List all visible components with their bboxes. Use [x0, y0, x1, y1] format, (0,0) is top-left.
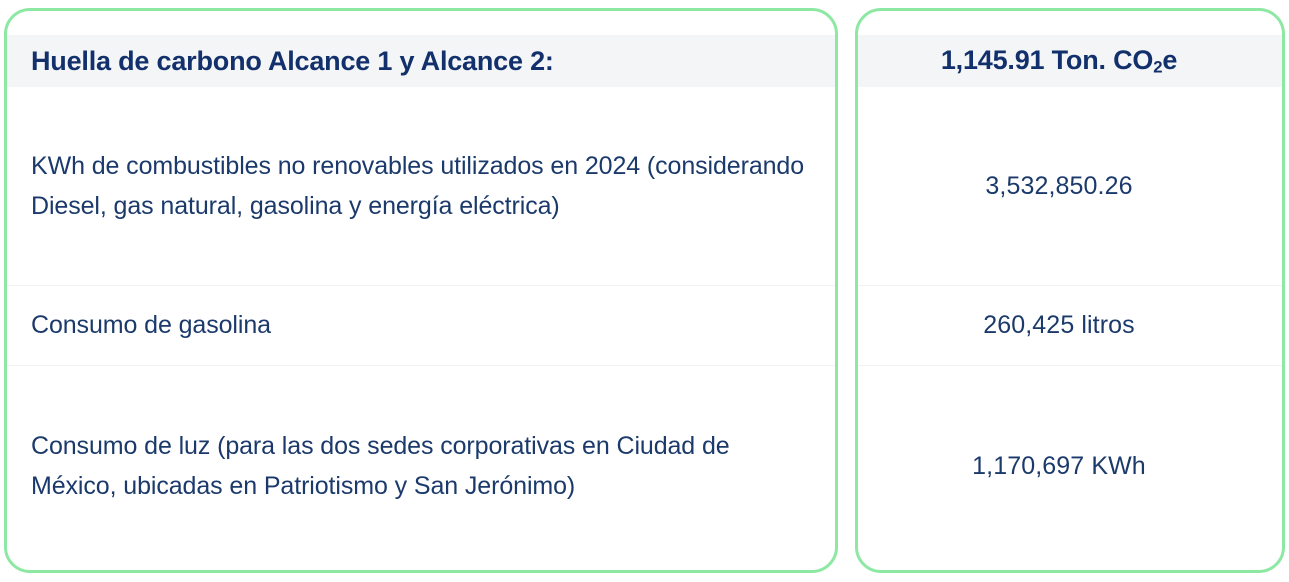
row-label-electricity: Consumo de luz (para las dos sedes corpo…: [7, 426, 835, 507]
table-row: 1,170,697 KWh: [858, 366, 1282, 566]
row-label-fuels: KWh de combustibles no renovables utiliz…: [7, 146, 835, 227]
row-label-gasoline: Consumo de gasolina: [7, 305, 295, 346]
page-title: Huella de carbono Alcance 1 y Alcance 2:: [7, 46, 554, 77]
table-header-left: Huella de carbono Alcance 1 y Alcance 2:: [7, 35, 835, 87]
table-row: 3,532,850.26: [858, 87, 1282, 285]
values-card: 1,145.91 Ton. CO2e 3,532,850.26 260,425 …: [855, 8, 1285, 573]
table-row: KWh de combustibles no renovables utiliz…: [7, 87, 835, 285]
table-header-right: 1,145.91 Ton. CO2e: [858, 35, 1282, 87]
row-value-gasoline: 260,425 litros: [858, 311, 1282, 340]
co2-subscript: 2: [1153, 57, 1162, 76]
total-emissions-value: 1,145.91 Ton. CO2e: [858, 45, 1282, 78]
table-row: Consumo de luz (para las dos sedes corpo…: [7, 366, 835, 566]
row-value-fuels: 3,532,850.26: [858, 172, 1282, 201]
carbon-footprint-table: Huella de carbono Alcance 1 y Alcance 2:…: [0, 0, 1289, 582]
table-row: 260,425 litros: [858, 286, 1282, 365]
description-card: Huella de carbono Alcance 1 y Alcance 2:…: [4, 8, 838, 573]
co2e-suffix: e: [1162, 45, 1177, 75]
total-emissions-number: 1,145.91 Ton. CO: [941, 45, 1153, 75]
row-value-electricity: 1,170,697 KWh: [858, 452, 1282, 481]
table-row: Consumo de gasolina: [7, 286, 835, 365]
